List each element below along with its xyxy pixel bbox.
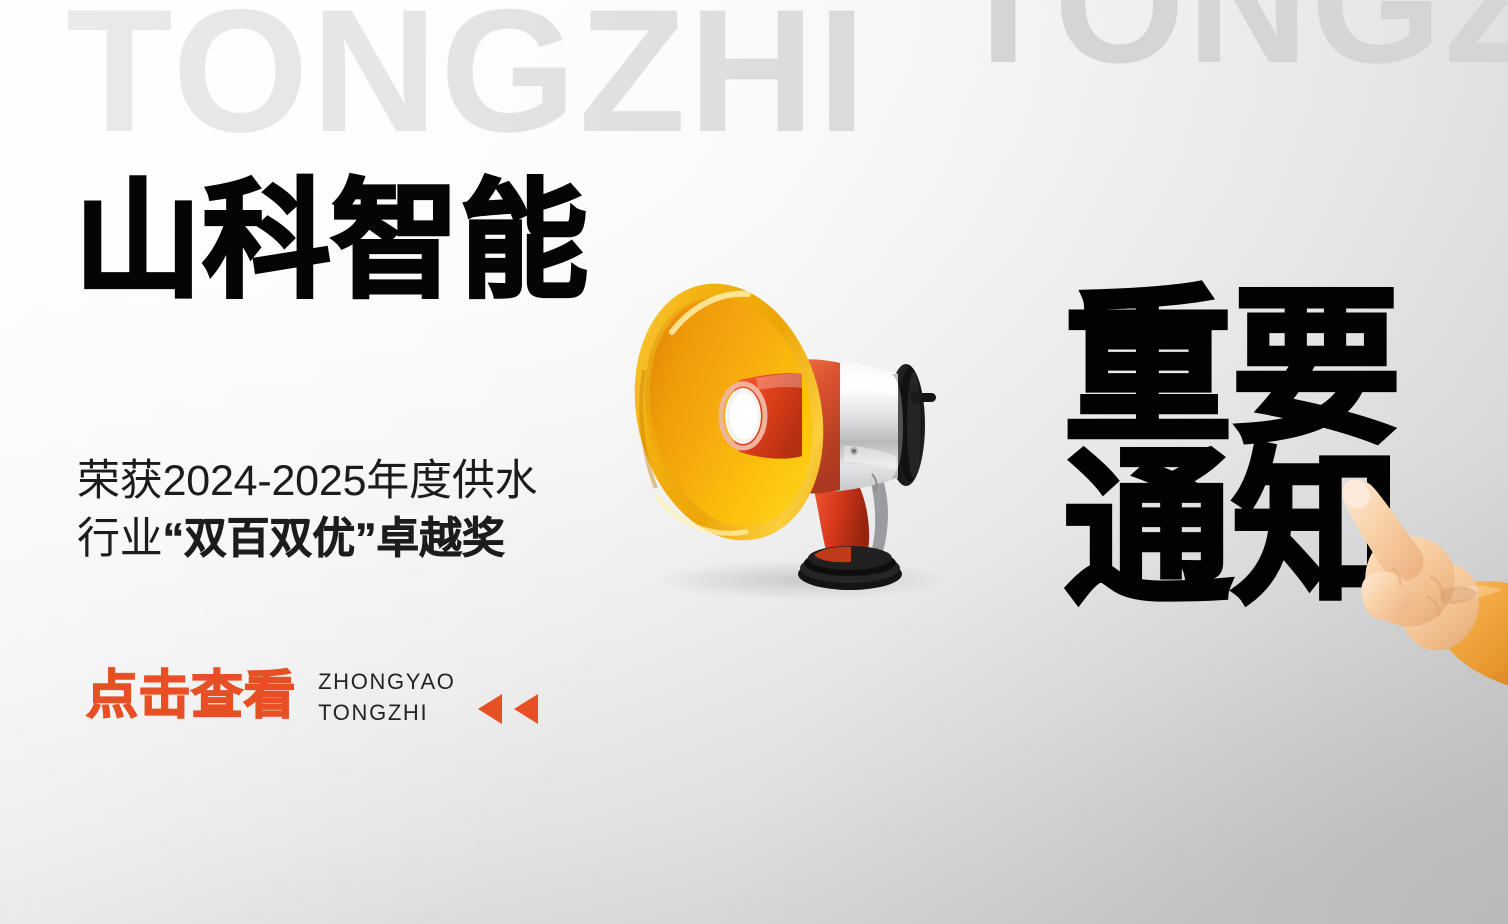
subtitle-line-2-prefix: 行业 (77, 515, 163, 563)
subtitle-line-2: 行业“双百双优”卓越奖 (77, 510, 597, 568)
cta-label[interactable]: 点击查看 (86, 670, 296, 722)
watermark-main: TONGZHI (66, 0, 869, 159)
subtitle-line-2-suffix: 卓越奖 (376, 515, 504, 563)
subtitle-line-1: 荣获2024-2025年度供水 (77, 452, 597, 510)
cta-pinyin: ZHONGYAO TONGZHI (318, 664, 455, 728)
cta-pinyin-line-2: TONGZHI (318, 697, 455, 728)
subtitle: 荣获2024-2025年度供水 行业“双百双优”卓越奖 (77, 452, 597, 569)
notice-heading-line-1: 重要 (1064, 288, 1424, 449)
megaphone-illustration (596, 250, 1016, 600)
subtitle-line-2-quoted: “双百双优” (163, 515, 377, 563)
page-title: 山科智能 (74, 178, 589, 306)
cta-arrow-group[interactable] (478, 668, 538, 724)
triangle-left-icon-1[interactable] (478, 694, 502, 724)
cta-pinyin-line-1: ZHONGYAO (318, 666, 455, 697)
pointing-hand-illustration (1326, 472, 1508, 702)
triangle-left-icon-2[interactable] (514, 694, 538, 724)
notice-banner[interactable]: TONGZHI TONGZHI (0, 0, 1508, 924)
cta-group[interactable]: 点击查看 ZHONGYAO TONGZHI (86, 664, 538, 728)
watermark-top-right: TONGZHI (952, 0, 1508, 88)
